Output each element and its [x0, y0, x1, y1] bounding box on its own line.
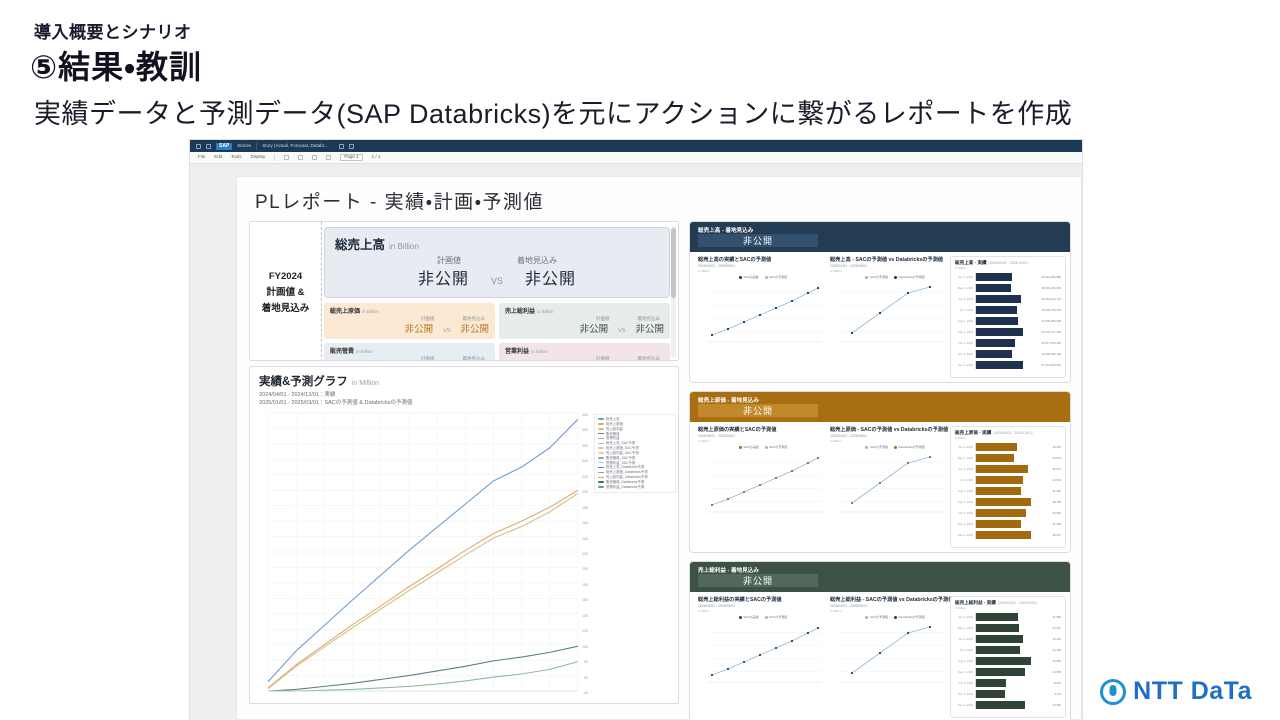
- bar-rows: Apr 1, 202440,312,484,888May 1, 202438,3…: [955, 271, 1061, 370]
- bar-category: Nov 1, 2024: [955, 692, 973, 696]
- slide-subtitle: 実績データと予測データ(SAP Databricks)を元にアクションに繋がるレ…: [34, 92, 1072, 131]
- bar-value-label: 51,973,816,640: [1042, 363, 1061, 367]
- mini-chart-range: 2024/04/01 - 2025/03/01: [698, 434, 828, 438]
- mini-chart-unit: in Million: [830, 439, 960, 443]
- legend-label: 売上総利益_Databricks予測: [606, 475, 648, 479]
- ntt-logo-text: NTT DaTa: [1133, 677, 1252, 706]
- panel-body: 総売上原価の実績とSACの予測値2024/04/01 - 2025/03/01i…: [690, 422, 1070, 552]
- legend-swatch: [598, 477, 604, 478]
- bar-row: Nov 1, 202431,285: [955, 518, 1061, 529]
- bar-fill: [976, 668, 1025, 676]
- legend-label: 営業利益_Databricks予測: [606, 485, 644, 489]
- trend-legend: 総売上高総売上原価売上総利益販売管費営業利益総売上高_SAC予測総売上原価_SA…: [594, 414, 676, 493]
- bar-track: [975, 701, 1050, 709]
- legend-item[interactable]: 販売管費_Databricks予測: [598, 480, 672, 484]
- panel-header: 売上総利益 - 着地見込み非公開: [690, 562, 1070, 592]
- bar-row: Nov 1, 202439,398,546,198: [955, 348, 1061, 359]
- legend-swatch: [598, 438, 604, 439]
- bar-row: Sep 1, 202413,958: [955, 666, 1061, 677]
- bar-track: [975, 531, 1050, 539]
- legend-item[interactable]: 営業利益: [598, 436, 672, 440]
- bar-category: Jul 1, 2024: [955, 648, 973, 652]
- bar-category: Sep 1, 2024: [955, 670, 973, 674]
- bar-value-label: 34,554: [1052, 511, 1061, 515]
- mini-chart-unit: in Million: [830, 609, 960, 613]
- bar-value-label: 13,343: [1052, 637, 1061, 641]
- kpi-hero-title: 総売上高: [335, 238, 385, 252]
- panel-header-value: 非公開: [698, 404, 818, 417]
- trend-title-row: 実績&予測グラフin Million: [259, 373, 379, 389]
- kpi-mini-card: 総売上原価in Billion計画値着地見込み非公開VS非公開: [324, 303, 495, 339]
- panel-body: 総売上総利益の実績とSACの予測値2024/04/01 - 2025/03/01…: [690, 592, 1070, 720]
- kpi-mini-unit: in Billion: [362, 309, 379, 314]
- actuals-bar-panel: 総売上高 - 実績(2024/04/01 - 2024/12/01)in Mil…: [950, 256, 1066, 378]
- bar-fill: [976, 339, 1015, 347]
- kpi-mini-title: 売上総利益in Billion: [505, 306, 664, 315]
- bar-track: [975, 498, 1050, 506]
- bar-row: Oct 1, 202434,554: [955, 507, 1061, 518]
- panel-header-value: 非公開: [698, 234, 818, 247]
- bar-row: Aug 1, 202447,000,955,038: [955, 315, 1061, 326]
- kpi-summary-card: FY2024 計画値 & 着地見込み 総売上高in Billion 計画値 着地…: [249, 221, 679, 361]
- fy-line2: 計画値 &: [266, 284, 304, 298]
- kpi-hero-value-plan: 非公開: [418, 265, 469, 289]
- legend-label: 総売上原価: [606, 422, 623, 426]
- legend-swatch: [598, 467, 604, 468]
- legend-item[interactable]: 営業利益_Databricks予測: [598, 485, 672, 489]
- panel-header: 総売上原価 - 着地見込み非公開: [690, 392, 1070, 422]
- fy-year: FY2024: [269, 271, 302, 282]
- sap-menu-bar: File Edit Tools Display Page 1 1 / 1: [190, 152, 1082, 164]
- forecast-mini-chart[interactable]: [698, 449, 826, 515]
- forecast-chart-right: 総売上総利益 - SACの予測値 vs Databricksの予測値2025/0…: [830, 596, 960, 718]
- mini-chart-range: 2025/01/01 - 2025/03/01: [830, 604, 960, 608]
- bar-track: [975, 295, 1040, 303]
- kpi-mini-values: 非公開VS非公開: [505, 321, 664, 335]
- page-title: ⑤結果・教訓: [30, 42, 202, 88]
- bar-fill: [976, 328, 1023, 336]
- mini-chart-title: 総売上総利益 - SACの予測値 vs Databricksの予測値: [830, 596, 960, 603]
- bar-track: [975, 635, 1050, 643]
- mini-chart-title: 総売上原価 - SACの予測値 vs Databricksの予測値: [830, 426, 960, 433]
- sap-document-title[interactable]: Story (Actual, Forecast, Databr...: [262, 144, 327, 149]
- bar-row: Apr 1, 202428,353: [955, 441, 1061, 452]
- mini-chart-title: 総売上原価の実績とSACの予測値: [698, 426, 828, 433]
- back-icon[interactable]: [206, 144, 211, 149]
- bar-track: [975, 317, 1040, 325]
- bar-track: [975, 328, 1040, 336]
- bar-track: [975, 454, 1050, 462]
- kpi-scrollbar[interactable]: [671, 226, 676, 358]
- bar-fill: [976, 361, 1023, 369]
- kpi-mini-vs: VS: [443, 328, 450, 334]
- bar-track: [975, 306, 1040, 314]
- panel-header-value: 非公開: [698, 574, 818, 587]
- trend-y-tick: 40: [584, 691, 588, 695]
- kpi-mini-card: 営業利益in Billion計画値着地見込み非公開VS非公開: [499, 343, 670, 361]
- ntt-data-logo: NTT DaTa: [1100, 677, 1252, 706]
- kpi-mini-value-landing: 非公開: [635, 321, 664, 335]
- bar-category: Oct 1, 2024: [955, 511, 973, 515]
- bar-panel-range: (2024/04/01 - 2024/12/01): [998, 601, 1037, 605]
- sap-app-label[interactable]: Stories: [237, 144, 251, 149]
- trend-line-chart[interactable]: [254, 407, 588, 699]
- mini-chart-unit: in Million: [698, 439, 828, 443]
- bar-category: Aug 1, 2024: [955, 659, 973, 663]
- trend-y-tick: 400: [582, 413, 588, 417]
- bar-value-label: 13,958: [1052, 670, 1061, 674]
- bar-category: Sep 1, 2024: [955, 330, 973, 334]
- trend-y-tick: 180: [582, 583, 588, 587]
- embedded-screenshot: SAP Stories Story (Actual, Forecast, Dat…: [190, 140, 1082, 720]
- bar-track: [975, 284, 1040, 292]
- bar-category: Dec 1, 2024: [955, 533, 973, 537]
- bar-fill: [976, 657, 1031, 665]
- panel-header: 総売上高 - 着地見込み非公開: [690, 222, 1070, 252]
- trend-y-tick: 240: [582, 537, 588, 541]
- trend-y-tick: 80: [584, 660, 588, 664]
- bar-category: Apr 1, 2024: [955, 445, 973, 449]
- bar-value-label: 39,398,546,198: [1042, 352, 1061, 356]
- bar-value-label: 32,552: [1052, 478, 1061, 482]
- mini-chart-range: 2025/01/01 - 2025/03/01: [830, 264, 960, 268]
- bar-fill: [976, 273, 1012, 281]
- bar-value-label: 42,977,874,469: [1042, 341, 1061, 345]
- bar-fill: [976, 531, 1031, 539]
- sap-shell-bar: SAP Stories Story (Actual, Forecast, Dat…: [190, 140, 1082, 152]
- refresh-icon[interactable]: [312, 155, 317, 160]
- undo-icon[interactable]: [284, 155, 289, 160]
- kpi-hero-unit: in Billion: [389, 242, 419, 251]
- bar-fill: [976, 454, 1014, 462]
- bar-fill: [976, 679, 1006, 687]
- bar-track: [975, 668, 1050, 676]
- forecast-mini-chart[interactable]: [698, 619, 826, 685]
- bar-track: [975, 273, 1040, 281]
- kpi-mini-values: 非公開VS非公開: [330, 321, 489, 335]
- left-column: FY2024 計画値 & 着地見込み 総売上高in Billion 計画値 着地…: [249, 221, 679, 704]
- legend-label: 営業利益: [606, 436, 620, 440]
- bar-fill: [976, 635, 1023, 643]
- trend-y-tick: 280: [582, 506, 588, 510]
- mini-chart-title: 総売上高の実績とSACの予測値: [698, 256, 828, 263]
- bar-panel-range: (2024/04/01 - 2024/12/01): [993, 431, 1032, 435]
- right-column: 総売上高 - 着地見込み非公開総売上高の実績とSACの予測値2024/04/01…: [689, 221, 1071, 720]
- bar-value-label: 31,285: [1052, 522, 1061, 526]
- kpi-hero-title-row: 総売上高in Billion: [335, 234, 659, 253]
- trend-y-tick: 260: [582, 521, 588, 525]
- bar-track: [975, 361, 1040, 369]
- bar-row: Sep 1, 202438,166: [955, 496, 1061, 507]
- bar-panel-unit: in Million: [955, 266, 1061, 270]
- mini-chart-unit: in Million: [698, 269, 828, 273]
- kpi-mini-unit: in Billion: [537, 309, 554, 314]
- legend-label: 総売上高_SAC予測: [606, 441, 635, 445]
- trend-plot-area[interactable]: [254, 407, 588, 699]
- trend-y-tick: 100: [582, 645, 588, 649]
- legend-item[interactable]: 総売上原価_SAC予測: [598, 446, 672, 450]
- bar-track: [975, 690, 1052, 698]
- bar-rows: Apr 1, 202428,353May 1, 202426,070Jun 1,…: [955, 441, 1061, 540]
- panel-body: 総売上高の実績とSACの予測値2024/04/01 - 2025/03/01in…: [690, 252, 1070, 382]
- bar-category: Nov 1, 2024: [955, 352, 973, 356]
- bar-track: [975, 350, 1040, 358]
- legend-item[interactable]: 売上総利益: [598, 427, 672, 431]
- bar-row: Sep 1, 202452,124,777,494: [955, 326, 1061, 337]
- slide-root: 導入概要とシナリオ ⑤結果・教訓 実績データと予測データ(SAP Databri…: [0, 0, 1280, 720]
- bar-value-label: 12,453: [1052, 648, 1061, 652]
- star-icon[interactable]: [339, 144, 344, 149]
- mini-chart-range: 2025/01/01 - 2025/03/01: [830, 434, 960, 438]
- bar-fill: [976, 690, 1005, 698]
- legend-item[interactable]: 総売上原価_Databricks予測: [598, 470, 672, 474]
- trend-title: 実績&予測グラフ: [259, 376, 348, 388]
- slide-kicker: 導入概要とシナリオ: [34, 18, 192, 43]
- bar-category: Jul 1, 2024: [955, 478, 973, 482]
- metric-panel-revenue: 総売上高 - 着地見込み非公開総売上高の実績とSACの予測値2024/04/01…: [689, 221, 1071, 383]
- bar-panel-unit: in Million: [955, 436, 1061, 440]
- bar-row: Oct 1, 202442,977,874,469: [955, 337, 1061, 348]
- forecast-chart-left: 総売上原価の実績とSACの予測値2024/04/01 - 2025/03/01i…: [698, 426, 828, 548]
- kpi-mini-labels: 計画値着地見込み: [505, 356, 664, 361]
- kpi-hero-revenue: 総売上高in Billion 計画値 着地見込み 非公開 VS 非公開: [324, 227, 670, 298]
- bar-fill: [976, 509, 1026, 517]
- kpi-mini-label-landing: 着地見込み: [638, 356, 661, 361]
- bar-track: [975, 509, 1050, 517]
- ntt-mark-icon: [1100, 679, 1126, 705]
- bar-track: [975, 646, 1050, 654]
- trend-y-tick: 60: [584, 676, 588, 680]
- kpi-mini-value-plan: 非公開: [405, 321, 434, 335]
- legend-swatch: [598, 457, 604, 458]
- bar-row: Jul 1, 202432,552: [955, 474, 1061, 485]
- trend-y-tick: 200: [582, 567, 588, 571]
- bar-fill: [976, 624, 1019, 632]
- legend-swatch: [598, 462, 604, 463]
- page-selector[interactable]: Page 1: [340, 154, 362, 162]
- mini-chart-title: 総売上総利益の実績とSACの予測値: [698, 596, 828, 603]
- kpi-mini-card: 売上総利益in Billion計画値着地見込み非公開VS非公開: [499, 303, 670, 339]
- bar-row: Aug 1, 202431,305: [955, 485, 1061, 496]
- trend-y-tick: 140: [582, 614, 588, 618]
- bar-value-label: 11,959: [1053, 615, 1061, 619]
- legend-item[interactable]: 総売上原価: [598, 422, 672, 426]
- kpi-mini-vs: VS: [618, 328, 625, 334]
- bar-fill: [976, 306, 1017, 314]
- legend-label: 総売上原価_SAC予測: [606, 446, 639, 450]
- bar-value-label: 28,353: [1052, 445, 1061, 449]
- bar-category: Jun 1, 2024: [955, 297, 973, 301]
- bar-panel-range: (2024/04/01 - 2024/12/01): [989, 261, 1028, 265]
- bar-fill: [976, 317, 1018, 325]
- legend-item[interactable]: 売上総利益_SAC予測: [598, 451, 672, 455]
- forecast-chart-right: 総売上原価 - SACの予測値 vs Databricksの予測値2025/01…: [830, 426, 960, 548]
- menu-edit[interactable]: Edit: [214, 155, 222, 160]
- bar-value-label: 38,166: [1052, 500, 1061, 504]
- bar-fill: [976, 498, 1031, 506]
- trend-unit: in Million: [352, 380, 379, 387]
- legend-item[interactable]: 総売上高_SAC予測: [598, 441, 672, 445]
- bar-value-label: 8,423: [1054, 681, 1061, 685]
- bar-panel-unit: in Million: [955, 606, 1061, 610]
- bar-category: Aug 1, 2024: [955, 489, 973, 493]
- bar-category: Apr 1, 2024: [955, 615, 973, 619]
- kpi-mini-unit: in Billion: [531, 349, 548, 354]
- bar-category: Jun 1, 2024: [955, 467, 973, 471]
- bar-fill: [976, 465, 1028, 473]
- bar-category: May 1, 2024: [955, 286, 973, 290]
- bar-value-label: 38,391,380,066: [1042, 286, 1061, 290]
- legend-label: 販売管費_Databricks予測: [606, 480, 644, 484]
- mini-chart-title: 総売上高 - SACの予測値 vs Databricksの予測値: [830, 256, 960, 263]
- fiscal-year-label: FY2024 計画値 & 着地見込み: [250, 222, 322, 361]
- kpi-mini-labels: 計画値着地見込み: [330, 356, 489, 361]
- kpi-hero-value-landing: 非公開: [525, 265, 576, 289]
- panel-header-title: 売上総利益 - 着地見込み: [698, 566, 759, 574]
- trend-chart-card: 実績&予測グラフin Million 2024/04/01 - 2024/12/…: [249, 366, 679, 704]
- bar-value-label: 8,113: [1054, 692, 1061, 696]
- kpi-mini-value-landing: 非公開: [460, 321, 489, 335]
- bar-fill: [976, 520, 1021, 528]
- trend-note-forecast: 2025/01/01 - 2025/03/01：SACの予測値 & Databr…: [259, 398, 412, 406]
- bar-track: [975, 443, 1050, 451]
- forecast-mini-chart[interactable]: [830, 279, 948, 345]
- bar-track: [975, 487, 1050, 495]
- bar-value-label: 38,007: [1052, 533, 1061, 537]
- bar-row: Aug 1, 202415,695: [955, 655, 1061, 666]
- trend-y-tick: 220: [582, 552, 588, 556]
- bar-fill: [976, 701, 1025, 709]
- bar-fill: [976, 646, 1020, 654]
- bar-value-label: 45,005,370,478: [1042, 308, 1061, 312]
- kpi-mini-value-plan: 非公開: [580, 321, 609, 335]
- mini-chart-unit: in Million: [830, 269, 960, 273]
- bar-row: Dec 1, 202438,007: [955, 529, 1061, 540]
- kpi-mini-title: 販売管費in Billion: [330, 346, 489, 355]
- menu-display[interactable]: Display: [251, 155, 266, 160]
- bar-track: [975, 679, 1052, 687]
- legend-swatch: [598, 481, 604, 482]
- help-icon[interactable]: [349, 144, 354, 149]
- mini-chart-range: 2024/04/01 - 2025/03/01: [698, 264, 828, 268]
- bar-fill: [976, 613, 1018, 621]
- legend-label: 売上総利益: [606, 427, 623, 431]
- menu-file[interactable]: File: [198, 155, 205, 160]
- legend-swatch: [598, 443, 604, 444]
- bar-row: Jul 1, 202445,005,370,478: [955, 304, 1061, 315]
- bar-row: Oct 1, 20248,423: [955, 677, 1061, 688]
- legend-label: 総売上原価_Databricks予測: [606, 470, 648, 474]
- legend-label: 総売上高: [606, 417, 620, 421]
- bar-category: Oct 1, 2024: [955, 681, 973, 685]
- bar-category: Dec 1, 2024: [955, 703, 973, 707]
- menu-icon[interactable]: [196, 144, 201, 149]
- fy-line3: 着地見込み: [262, 300, 310, 314]
- legend-label: 売上総利益_SAC予測: [606, 451, 639, 455]
- legend-item[interactable]: 販売管費_SAC予測: [598, 456, 672, 460]
- bar-track: [975, 657, 1050, 665]
- bar-value-label: 52,124,777,494: [1042, 330, 1061, 334]
- bar-value-label: 49,416,444,731: [1042, 297, 1061, 301]
- trend-y-tick: 160: [582, 598, 588, 602]
- insert-icon[interactable]: [326, 155, 331, 160]
- menu-tools[interactable]: Tools: [231, 155, 242, 160]
- trend-y-axis: 4003803603403203002802602402202001801601…: [562, 415, 588, 693]
- forecast-mini-chart[interactable]: [830, 619, 948, 685]
- forecast-chart-left: 総売上総利益の実績とSACの予測値2024/04/01 - 2025/03/01…: [698, 596, 828, 718]
- panel-header-title: 総売上高 - 着地見込み: [698, 226, 753, 234]
- legend-item[interactable]: 総売上高: [598, 417, 672, 421]
- trend-y-tick: 120: [582, 629, 588, 633]
- trend-y-tick: 360: [582, 444, 588, 448]
- bar-value-label: 40,312,484,888: [1042, 275, 1061, 279]
- trend-y-tick: 320: [582, 475, 588, 479]
- bar-row: May 1, 202412,321: [955, 622, 1061, 633]
- bar-category: Apr 1, 2024: [955, 275, 973, 279]
- bar-category: Jul 1, 2024: [955, 308, 973, 312]
- bar-track: [975, 465, 1050, 473]
- bar-fill: [976, 476, 1023, 484]
- metric-panel-cogs: 総売上原価 - 着地見込み非公開総売上原価の実績とSACの予測値2024/04/…: [689, 391, 1071, 553]
- forecast-mini-chart[interactable]: [830, 449, 948, 515]
- bar-row: Nov 1, 20248,113: [955, 688, 1061, 699]
- bar-row: Jul 1, 202412,453: [955, 644, 1061, 655]
- legend-swatch: [598, 452, 604, 453]
- kpi-hero-vs: VS: [491, 276, 503, 286]
- legend-item[interactable]: 売上総利益_Databricks予測: [598, 475, 672, 479]
- divider: [274, 154, 275, 161]
- forecast-mini-chart[interactable]: [698, 279, 826, 345]
- bar-category: May 1, 2024: [955, 626, 973, 630]
- bar-track: [975, 476, 1050, 484]
- legend-swatch: [598, 418, 604, 419]
- bar-category: Nov 1, 2024: [955, 522, 973, 526]
- bar-rows: Apr 1, 202411,959May 1, 202412,321Jun 1,…: [955, 611, 1061, 710]
- forecast-chart-left: 総売上高の実績とSACの予測値2024/04/01 - 2025/03/01in…: [698, 256, 828, 378]
- legend-swatch: [598, 486, 604, 487]
- bar-row: May 1, 202426,070: [955, 452, 1061, 463]
- kpi-mini-unit: in Billion: [356, 349, 373, 354]
- metric-panel-gross-profit: 売上総利益 - 着地見込み非公開総売上総利益の実績とSACの予測値2024/04…: [689, 561, 1071, 720]
- kpi-main-area: 総売上高in Billion 計画値 着地見込み 非公開 VS 非公開: [324, 227, 670, 361]
- bar-row: Jun 1, 202449,416,444,731: [955, 293, 1061, 304]
- sap-logo: SAP: [216, 143, 232, 150]
- actuals-bar-panel: 総売上原価 - 実績(2024/04/01 - 2024/12/01)in Mi…: [950, 426, 1066, 548]
- legend-swatch: [598, 423, 604, 424]
- bar-track: [975, 339, 1040, 347]
- panel-header-title: 総売上原価 - 着地見込み: [698, 396, 759, 404]
- divider: [256, 143, 257, 150]
- legend-swatch: [598, 428, 604, 429]
- bar-value-label: 13,966: [1052, 703, 1061, 707]
- bar-category: Dec 1, 2024: [955, 363, 973, 367]
- bar-fill: [976, 443, 1017, 451]
- bar-category: Aug 1, 2024: [955, 319, 973, 323]
- mini-chart-range: 2024/04/01 - 2025/03/01: [698, 604, 828, 608]
- kpi-mini-label-landing: 着地見込み: [463, 356, 486, 361]
- bar-value-label: 31,305: [1052, 489, 1061, 493]
- bar-fill: [976, 284, 1011, 292]
- bar-fill: [976, 350, 1012, 358]
- legend-label: 販売管費_SAC予測: [606, 456, 635, 460]
- kpi-hero-values: 非公開 VS 非公開: [335, 265, 659, 289]
- bar-fill: [976, 295, 1021, 303]
- filter-icon[interactable]: [298, 155, 303, 160]
- kpi-mini-card-grid: 総売上原価in Billion計画値着地見込み非公開VS非公開売上総利益in B…: [324, 303, 670, 361]
- bar-row: Dec 1, 202451,973,816,640: [955, 359, 1061, 370]
- bar-track: [975, 624, 1050, 632]
- trend-y-tick: 300: [582, 490, 588, 494]
